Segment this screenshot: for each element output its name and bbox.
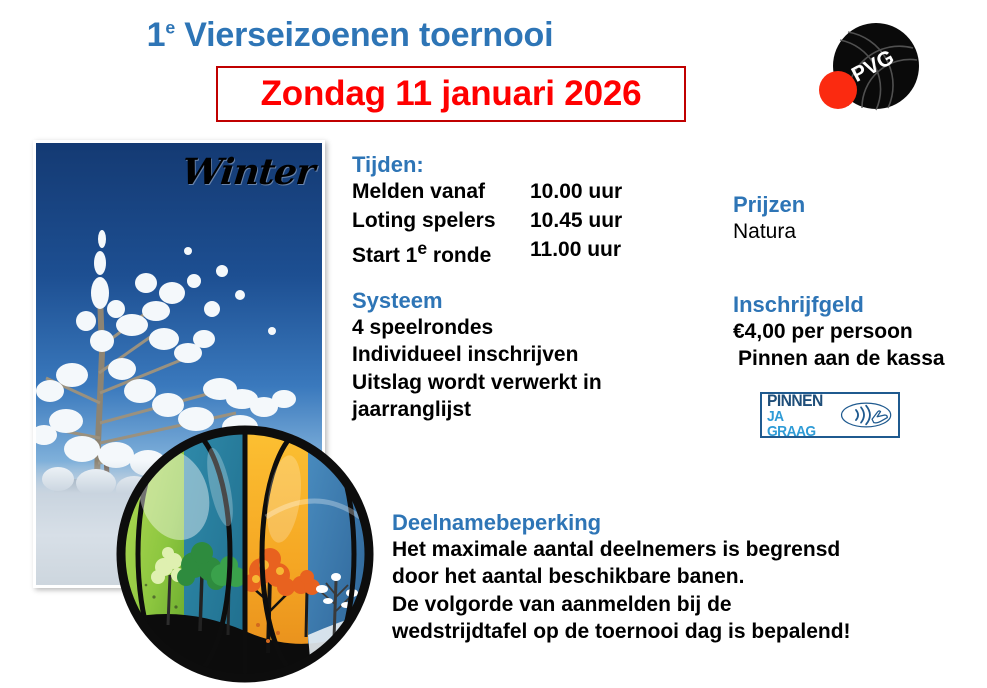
systeem-line: jaarranglijst [352, 396, 602, 423]
schedule-label-ordinal: e [417, 238, 427, 258]
schedule-row: Melden vanaf 10.00 uur [352, 178, 622, 207]
page-title: 1e Vierseizoenen toernooi [0, 16, 700, 55]
deelnamebeperking-line: De volgorde van aanmelden bij de [392, 591, 851, 618]
date-text: Zondag 11 januari 2026 [261, 74, 642, 114]
pvg-boule-icon: PVG [818, 18, 922, 122]
prijzen-heading: Prijzen [733, 192, 805, 218]
deelnamebeperking-block: Deelnamebeperking Het maximale aantal de… [392, 510, 851, 645]
poster-canvas: 1e Vierseizoenen toernooi Zondag 11 janu… [0, 0, 987, 688]
schedule-row: Start 1e ronde 11.00 uur [352, 236, 622, 271]
tijden-block: Tijden: Melden vanaf 10.00 uur Loting sp… [352, 152, 622, 271]
systeem-heading: Systeem [352, 288, 602, 314]
prijzen-block: Prijzen Natura [733, 192, 805, 245]
title-prefix: 1 [147, 16, 166, 54]
inschrijfgeld-price: €4,00 per persoon [733, 318, 945, 345]
deelnamebeperking-line: door het aantal beschikbare banen. [392, 563, 851, 590]
systeem-line: 4 speelrondes [352, 314, 602, 341]
date-box: Zondag 11 januari 2026 [216, 66, 686, 122]
systeem-line: Uitslag wordt verwerkt in [352, 369, 602, 396]
seasons-ball-icon [116, 425, 374, 683]
pvg-logo: PVG [818, 18, 922, 122]
inschrijfgeld-heading: Inschrijfgeld [733, 292, 945, 318]
schedule-value: 11.00 uur [530, 236, 621, 271]
pin-logo-words: PINNEN JA GRAAG [767, 392, 834, 439]
schedule-row: Loting spelers 10.45 uur [352, 207, 622, 236]
four-seasons-sphere [116, 425, 374, 683]
tijden-heading: Tijden: [352, 152, 622, 178]
pin-logo-word-primary: PINNEN [767, 392, 828, 409]
schedule-label-text: Start 1 [352, 244, 417, 267]
title-rest: Vierseizoenen toernooi [175, 16, 553, 54]
contactless-payment-icon [839, 399, 893, 431]
inschrijfgeld-block: Inschrijfgeld €4,00 per persoon Pinnen a… [733, 292, 945, 373]
deelnamebeperking-heading: Deelnamebeperking [392, 510, 851, 536]
deelnamebeperking-line: wedstrijdtafel op de toernooi dag is bep… [392, 618, 851, 645]
schedule-label: Melden vanaf [352, 178, 530, 207]
schedule-label: Start 1e ronde [352, 236, 530, 271]
title-ordinal-suffix: e [165, 18, 175, 38]
pin-logo-word-secondary: JA GRAAG [767, 409, 828, 439]
schedule-label-tail: ronde [427, 244, 491, 267]
schedule-value: 10.45 uur [530, 207, 622, 236]
schedule-value: 10.00 uur [530, 178, 622, 207]
pinnen-ja-graag-logo: PINNEN JA GRAAG [760, 392, 900, 438]
deelnamebeperking-line: Het maximale aantal deelnemers is begren… [392, 536, 851, 563]
inschrijfgeld-payment-note: Pinnen aan de kassa [733, 345, 945, 372]
systeem-line: Individueel inschrijven [352, 341, 602, 368]
winter-caption: Winter [180, 151, 317, 193]
systeem-block: Systeem 4 speelrondes Individueel inschr… [352, 288, 602, 423]
prijzen-value: Natura [733, 218, 805, 245]
schedule-label: Loting spelers [352, 207, 530, 236]
